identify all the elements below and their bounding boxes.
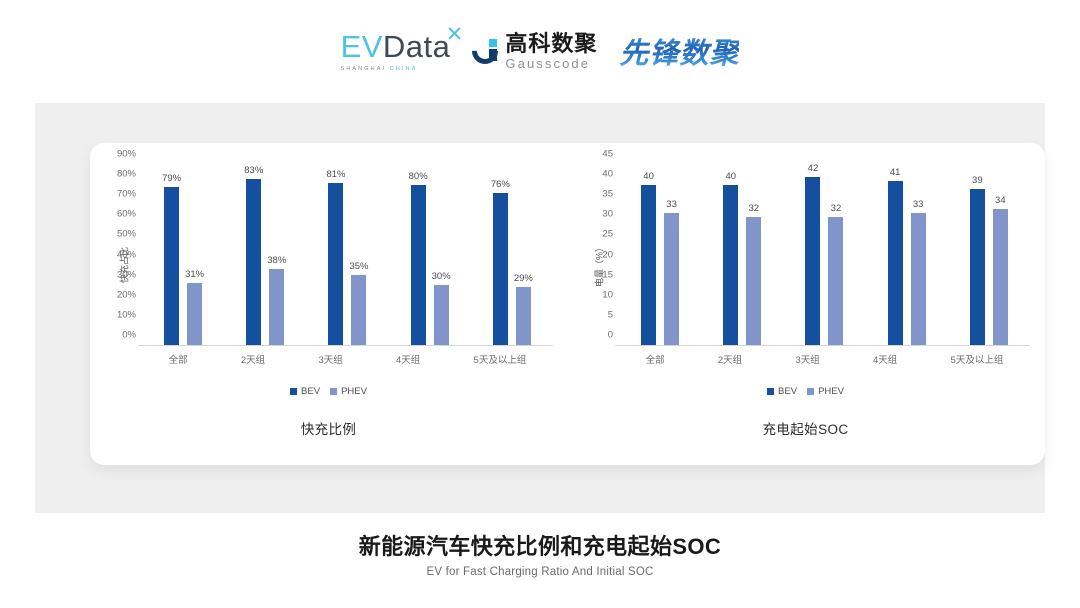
y-tick-label: 10	[602, 289, 613, 300]
bar-phev[interactable]: 32	[828, 217, 843, 345]
bar-value-label: 80%	[409, 171, 428, 182]
bar-value-label: 76%	[491, 179, 510, 190]
bar-value-label: 31%	[185, 269, 204, 280]
bar-bev[interactable]: 79%	[164, 187, 179, 345]
legend-label-phev: PHEV	[341, 386, 367, 397]
bar-group: 83%38%	[246, 165, 284, 345]
logo-xianfeng-shuju: 先锋数聚	[619, 30, 739, 72]
x-tick-label: 4天组	[396, 352, 420, 366]
bar-phev[interactable]: 38%	[269, 269, 284, 345]
y-tick-label: 35	[602, 189, 613, 200]
y-tick-label: 50%	[117, 229, 136, 240]
y-tick-label: 0%	[122, 330, 136, 341]
bar-group: 4232	[805, 165, 843, 345]
bar-phev[interactable]: 35%	[351, 275, 366, 345]
evdata-tagline: SHANGHAI CHINA	[341, 66, 418, 72]
legend-swatch-bev	[767, 388, 774, 395]
bar-bev[interactable]: 81%	[328, 183, 343, 345]
legend-item-phev[interactable]: PHEV	[330, 386, 367, 397]
page-subtitle: EV for Fast Charging Ratio And Initial S…	[0, 566, 1080, 578]
gausscode-en-text: Gausscode	[505, 57, 597, 70]
x-tick-label: 2天组	[718, 352, 742, 366]
legend-item-phev[interactable]: PHEV	[807, 386, 844, 397]
bar-value-label: 38%	[267, 255, 286, 266]
bar-value-label: 40	[725, 171, 736, 182]
bar-bev[interactable]: 42	[805, 177, 820, 345]
gausscode-square-accent	[489, 39, 497, 47]
y-tick-label: 20%	[117, 289, 136, 300]
x-axis-labels: 全部2天组3天组4天组5天及以上组	[142, 348, 553, 372]
legend-initial-soc: BEVPHEV	[567, 386, 1044, 397]
x-tick-label: 全部	[169, 352, 188, 366]
logo-bar: EVData ✕ SHANGHAI CHINA 高科数聚 Gausscode 先…	[0, 22, 1080, 80]
bar-value-label: 40	[643, 171, 654, 182]
charts-card: 快充占比0%10%20%30%40%50%60%70%80%90%79%31%8…	[90, 143, 1045, 465]
gausscode-arc-shape	[467, 33, 504, 70]
x-axis-line	[138, 345, 553, 346]
bar-group: 79%31%	[164, 165, 202, 345]
slide-root: EVData ✕ SHANGHAI CHINA 高科数聚 Gausscode 先…	[0, 0, 1080, 608]
x-axis-line	[615, 345, 1030, 346]
bar-phev[interactable]: 33	[664, 213, 679, 345]
y-tick-label: 40	[602, 169, 613, 180]
x-tick-label: 4天组	[873, 352, 897, 366]
chart-initial-soc: 电量（%）05101520253035404540334032423241333…	[567, 143, 1044, 465]
bar-value-label: 81%	[326, 169, 345, 180]
charts-row: 快充占比0%10%20%30%40%50%60%70%80%90%79%31%8…	[90, 143, 1045, 465]
y-tick-label: 30	[602, 209, 613, 220]
bar-phev[interactable]: 31%	[187, 283, 202, 345]
bar-group: 4033	[641, 165, 679, 345]
bar-bev[interactable]: 76%	[493, 193, 508, 345]
bar-phev[interactable]: 33	[911, 213, 926, 345]
y-tick-label: 5	[608, 309, 613, 320]
y-tick-label: 0	[608, 330, 613, 341]
bars-container: 79%31%83%38%81%35%80%30%76%29%	[142, 165, 553, 345]
bar-value-label: 33	[913, 199, 924, 210]
plot-area-initial-soc: 电量（%）05101520253035404540334032423241333…	[567, 157, 1044, 372]
bar-value-label: 41	[890, 167, 901, 178]
bar-group: 3934	[970, 165, 1008, 345]
bar-value-label: 29%	[514, 273, 533, 284]
page-title: 新能源汽车快充比例和充电起始SOC	[0, 533, 1080, 561]
bar-bev[interactable]: 80%	[411, 185, 426, 345]
bar-phev[interactable]: 32	[746, 217, 761, 345]
chart-fast-charging-ratio: 快充占比0%10%20%30%40%50%60%70%80%90%79%31%8…	[90, 143, 567, 465]
bar-phev[interactable]: 30%	[434, 285, 449, 345]
bars-container: 40334032423241333934	[619, 165, 1030, 345]
gausscode-mark-icon	[472, 38, 498, 64]
logo-evdata: EVData ✕ SHANGHAI CHINA	[341, 31, 451, 72]
gausscode-text: 高科数聚 Gausscode	[505, 33, 597, 70]
bar-bev[interactable]: 41	[888, 181, 903, 345]
bar-bev[interactable]: 40	[641, 185, 656, 345]
bar-group: 80%30%	[411, 165, 449, 345]
chart-title-fast-charging-ratio: 快充比例	[90, 418, 567, 438]
bar-value-label: 30%	[432, 271, 451, 282]
gausscode-square-dark	[489, 49, 497, 61]
bar-value-label: 32	[831, 203, 842, 214]
x-tick-label: 3天组	[318, 352, 342, 366]
logo-gausscode: 高科数聚 Gausscode	[472, 33, 597, 70]
evdata-data-text: Data	[383, 29, 450, 64]
footer: 新能源汽车快充比例和充电起始SOC EV for Fast Charging R…	[0, 533, 1080, 578]
plot-area-fast-charging-ratio: 快充占比0%10%20%30%40%50%60%70%80%90%79%31%8…	[90, 157, 567, 372]
x-tick-label: 3天组	[795, 352, 819, 366]
bar-bev[interactable]: 39	[970, 189, 985, 345]
y-tick-label: 80%	[117, 169, 136, 180]
bar-value-label: 35%	[349, 261, 368, 272]
evdata-x-icon: ✕	[446, 24, 464, 45]
y-tick-label: 70%	[117, 189, 136, 200]
bar-bev[interactable]: 83%	[246, 179, 261, 345]
bar-phev[interactable]: 34	[993, 209, 1008, 345]
legend-swatch-bev	[290, 388, 297, 395]
legend-label-bev: BEV	[301, 386, 320, 397]
x-tick-label: 2天组	[241, 352, 265, 366]
gausscode-cn-text: 高科数聚	[505, 33, 597, 55]
legend-item-bev[interactable]: BEV	[290, 386, 320, 397]
bar-value-label: 83%	[244, 165, 263, 176]
legend-swatch-phev	[807, 388, 814, 395]
y-tick-label: 10%	[117, 309, 136, 320]
bar-value-label: 39	[972, 175, 983, 186]
evdata-country-text: CHINA	[390, 66, 418, 72]
y-tick-label: 15	[602, 269, 613, 280]
axis-area-initial-soc: 05101520253035404540334032423241333934	[619, 165, 1030, 346]
legend-item-bev[interactable]: BEV	[767, 386, 797, 397]
bar-bev[interactable]: 40	[723, 185, 738, 345]
legend-label-bev: BEV	[778, 386, 797, 397]
legend-fast-charging-ratio: BEVPHEV	[90, 386, 567, 397]
y-tick-label: 90%	[117, 149, 136, 160]
legend-label-phev: PHEV	[818, 386, 844, 397]
y-tick-label: 40%	[117, 249, 136, 260]
y-tick-label: 30%	[117, 269, 136, 280]
x-tick-label: 5天及以上组	[474, 352, 527, 366]
evdata-wordmark: EVData	[341, 31, 451, 62]
bar-value-label: 79%	[162, 173, 181, 184]
bar-value-label: 34	[995, 195, 1006, 206]
y-tick-label: 20	[602, 249, 613, 260]
bar-group: 76%29%	[493, 165, 531, 345]
bar-group: 4032	[723, 165, 761, 345]
axis-area-fast-charging-ratio: 0%10%20%30%40%50%60%70%80%90%79%31%83%38…	[142, 165, 553, 346]
x-tick-label: 全部	[646, 352, 665, 366]
bar-value-label: 32	[748, 203, 759, 214]
x-tick-label: 5天及以上组	[951, 352, 1004, 366]
bar-value-label: 33	[666, 199, 677, 210]
evdata-ev-text: EV	[341, 29, 383, 64]
y-tick-label: 25	[602, 229, 613, 240]
bar-group: 81%35%	[328, 165, 366, 345]
bar-group: 4133	[888, 165, 926, 345]
legend-swatch-phev	[330, 388, 337, 395]
chart-title-initial-soc: 充电起始SOC	[567, 418, 1044, 438]
x-axis-labels: 全部2天组3天组4天组5天及以上组	[619, 348, 1030, 372]
bar-phev[interactable]: 29%	[516, 287, 531, 345]
bar-value-label: 42	[808, 163, 819, 174]
y-tick-label: 45	[602, 149, 613, 160]
y-tick-label: 60%	[117, 209, 136, 220]
evdata-city-text: SHANGHAI	[341, 66, 390, 72]
